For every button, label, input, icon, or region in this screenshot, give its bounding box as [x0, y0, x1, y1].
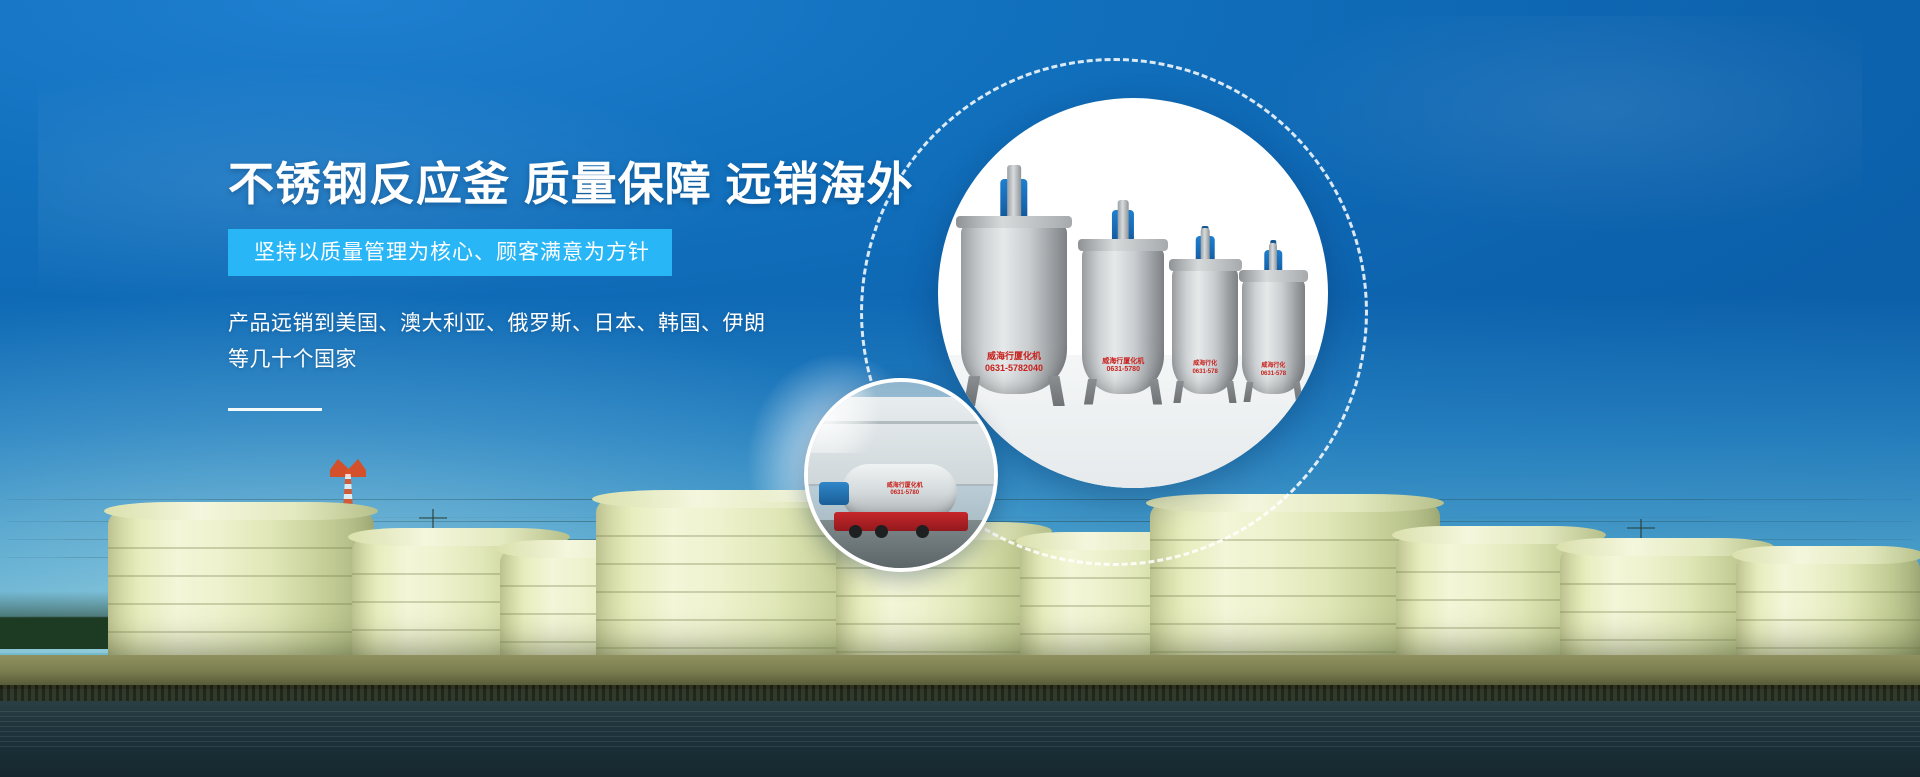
vessel-label-company: 威海行化 [1193, 361, 1217, 367]
product-photo-circle: 威海行厦化机 0631-5782040 威海行厦化机 0631-5780 [938, 98, 1328, 488]
vessel-label: 威海行厦化机 0631-5782040 [985, 351, 1043, 374]
reactor-vessel: 威海行厦化机 0631-5782040 [961, 223, 1066, 395]
vessel-label: 威海行厦化机 0631-5780 [1102, 358, 1144, 376]
vessel-body: 威海行厦化机 0631-5782040 [961, 223, 1066, 395]
vessel-body: 威海行化 0631-578 [1242, 277, 1304, 394]
vessel-label-phone: 0631-578 [1261, 371, 1286, 377]
vessel-label-company: 威海行化 [1261, 363, 1285, 369]
banner-headline: 不锈钢反应釜 质量保障 远销海外 [228, 160, 868, 209]
tagline-wrapper: 坚持以质量管理为核心、顾客满意为方针 [228, 229, 868, 276]
vessel-flange [1169, 259, 1242, 271]
inset-photo-circle: 威海行厦化机 0631-5780 [804, 378, 998, 572]
reactor-vessel: 威海行厦化机 0631-5780 [1082, 246, 1164, 394]
vessel-body: 威海行厦化机 0631-5780 [1082, 246, 1164, 394]
vessel-label: 威海行化 0631-578 [1192, 361, 1217, 376]
vessel-neck [1007, 165, 1021, 223]
vessel-body: 威海行化 0631-578 [1172, 266, 1238, 395]
banner-paragraph-line2: 等几十个国家 [228, 342, 768, 378]
storage-tank [1736, 555, 1920, 659]
inset-label-company: 威海行厦化机 [887, 483, 923, 489]
quay-wall [0, 655, 1920, 689]
vessel-label-phone: 0631-578 [1192, 369, 1217, 375]
vessel-flange [1078, 239, 1168, 251]
decorative-rule [228, 408, 322, 411]
inset-label-phone: 0631-5780 [890, 490, 919, 496]
vessel-label-company: 威海行厦化机 [1102, 358, 1144, 365]
banner-copy: 不锈钢反应釜 质量保障 远销海外 坚持以质量管理为核心、顾客满意为方针 产品远销… [228, 160, 868, 411]
inset-vessel-label: 威海行厦化机 0631-5780 [887, 483, 923, 497]
banner-paragraph-line1: 产品远销到美国、澳大利亚、俄罗斯、日本、韩国、伊朗 [228, 306, 768, 342]
vessel-label-phone: 0631-5782040 [985, 363, 1043, 373]
storage-tank [108, 511, 374, 659]
vessel-flange [1239, 270, 1308, 282]
vessel-label-company: 威海行厦化机 [987, 351, 1041, 361]
inset-steam [804, 378, 879, 453]
vessel-flange [956, 216, 1072, 228]
hero-banner: 不锈钢反应釜 质量保障 远销海外 坚持以质量管理为核心、顾客满意为方针 产品远销… [0, 0, 1920, 777]
vessel-label: 威海行化 0631-578 [1261, 363, 1286, 378]
banner-tagline: 坚持以质量管理为核心、顾客满意为方针 [228, 229, 672, 276]
water-reflection [0, 711, 1920, 747]
reactor-vessel: 威海行化 0631-578 [1242, 277, 1304, 394]
inset-vessel-motor [819, 482, 849, 504]
reactor-vessel: 威海行化 0631-578 [1172, 266, 1238, 395]
vessel-label-phone: 0631-5780 [1106, 366, 1139, 373]
